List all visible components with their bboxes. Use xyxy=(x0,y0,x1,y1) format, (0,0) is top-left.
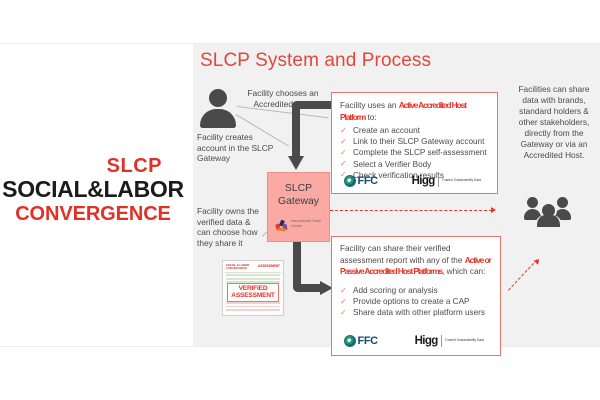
list-item: ✓Select a Verifier Body xyxy=(340,159,487,170)
gateway-title-line1: SLCP xyxy=(285,183,312,194)
slide-canvas: SLCP System and Process SLCP SOCIAL&LABO… xyxy=(0,43,600,347)
document-line xyxy=(226,278,280,280)
ffc-logo: FFC xyxy=(344,333,378,348)
person-body xyxy=(200,109,236,128)
check-icon: ✓ xyxy=(340,158,347,169)
box2-logos: FFC Higg Trusted Sustainability Data xyxy=(344,333,490,348)
gateway-title: SLCP Gateway xyxy=(268,182,329,208)
document-header-right: ASSESSMENT xyxy=(258,264,280,268)
list-item: ✓Add scoring or analysis xyxy=(340,285,485,296)
label-facility-owns-data: Facility owns the verified data & can ch… xyxy=(197,206,265,248)
box2-item-0: Add scoring or analysis xyxy=(353,286,438,295)
ffc-logo-text: FFC xyxy=(358,335,378,347)
box1-item-1: Link to their SLCP Gateway account xyxy=(353,137,484,146)
document-line xyxy=(226,309,280,311)
ffc-logo-mark xyxy=(344,175,356,187)
ffc-logo: FFC xyxy=(344,173,378,188)
list-item: ✓Share data with other platform users xyxy=(340,307,485,318)
higg-logo: Higg Trusted Sustainability Data xyxy=(415,333,484,348)
higg-logo-text: Higg xyxy=(415,335,438,347)
box2-checklist: ✓Add scoring or analysis ✓Provide option… xyxy=(340,285,485,319)
box1-logos: FFC Higg Trusted Sustainability Data xyxy=(344,173,487,188)
check-icon: ✓ xyxy=(340,285,347,296)
active-passive-host-box: Facility can share their verified assess… xyxy=(331,236,501,356)
list-item: ✓Create an account xyxy=(340,125,487,136)
document-line xyxy=(226,306,280,308)
higg-logo-divider xyxy=(438,175,439,187)
box2-lead-prefix: Facility can share their verified assess… xyxy=(340,244,465,265)
verified-assessment-stamp: VERIFIED ASSESSMENT xyxy=(227,283,279,302)
dashed-arrow-horizontal xyxy=(330,210,492,211)
itc-logo: International Trade Centre xyxy=(276,219,326,235)
box1-lead-text: Facility uses an Active Accredited Host … xyxy=(340,100,490,123)
facility-person-icon xyxy=(200,89,236,127)
slcp-logo: SLCP SOCIAL&LABOR CONVERGENCE xyxy=(0,156,186,236)
gateway-title-line2: Gateway xyxy=(278,196,319,207)
list-item: ✓Provide options to create a CAP xyxy=(340,296,485,307)
box2-item-2: Share data with other platform users xyxy=(353,308,485,317)
document-line xyxy=(226,274,280,276)
box2-item-1: Provide options to create a CAP xyxy=(353,297,470,306)
right-panel-text: Facilities can share data with brands, s… xyxy=(513,84,595,161)
higg-logo-subtext: Trusted Sustainability Data xyxy=(445,338,484,342)
verified-assessment-document: SOCIAL & LABOR CONVERGENCE ASSESSMENT VE… xyxy=(222,260,284,316)
itc-logo-mark xyxy=(276,220,289,233)
check-icon: ✓ xyxy=(340,136,347,147)
higg-logo-subtext: Trusted Sustainability Data xyxy=(442,178,481,182)
box1-item-0: Create an account xyxy=(353,126,420,135)
ffc-logo-mark xyxy=(344,335,356,347)
dashed-arrow-horizontal-tip xyxy=(491,207,496,213)
box1-item-2: Complete the SLCP self-assessment xyxy=(353,148,487,157)
document-line xyxy=(226,302,280,304)
page-title: SLCP System and Process xyxy=(200,50,431,72)
ffc-logo-text: FFC xyxy=(358,175,378,187)
itc-logo-text: International Trade Centre xyxy=(291,219,326,229)
box1-lead-prefix: Facility uses an xyxy=(340,101,399,110)
higg-logo-text: Higg xyxy=(412,175,435,187)
box1-item-3: Select a Verifier Body xyxy=(353,160,431,169)
check-icon: ✓ xyxy=(340,296,347,307)
active-accredited-host-box: Facility uses an Active Accredited Host … xyxy=(331,92,498,194)
box2-lead-suffix: , which can: xyxy=(442,267,485,276)
label-facility-creates-account: Facility creates account in the SLCP Gat… xyxy=(197,132,277,164)
stamp-line2: ASSESSMENT xyxy=(231,292,274,299)
brand-line-social-labor: SOCIAL&LABOR xyxy=(0,177,186,202)
check-icon: ✓ xyxy=(340,125,347,136)
check-icon: ✓ xyxy=(340,307,347,318)
person-head xyxy=(209,89,227,107)
list-item: ✓Link to their SLCP Gateway account xyxy=(340,136,487,147)
document-header-left2: CONVERGENCE xyxy=(226,267,247,270)
brand-line-slcp: SLCP xyxy=(0,156,186,176)
brand-line-convergence: CONVERGENCE xyxy=(0,203,186,225)
higg-logo-divider xyxy=(441,335,442,347)
box2-lead-text: Facility can share their verified assess… xyxy=(340,244,493,278)
higg-logo: Higg Trusted Sustainability Data xyxy=(412,173,481,188)
stamp-line1: VERIFIED xyxy=(239,285,268,292)
list-item: ✓Complete the SLCP self-assessment xyxy=(340,147,487,158)
box1-lead-suffix: to: xyxy=(365,113,376,122)
document-header: SOCIAL & LABOR CONVERGENCE ASSESSMENT xyxy=(225,263,281,273)
check-icon: ✓ xyxy=(340,147,347,158)
people-group-icon xyxy=(524,196,584,226)
slcp-gateway-box[interactable]: SLCP Gateway International Trade Centre xyxy=(267,172,330,242)
